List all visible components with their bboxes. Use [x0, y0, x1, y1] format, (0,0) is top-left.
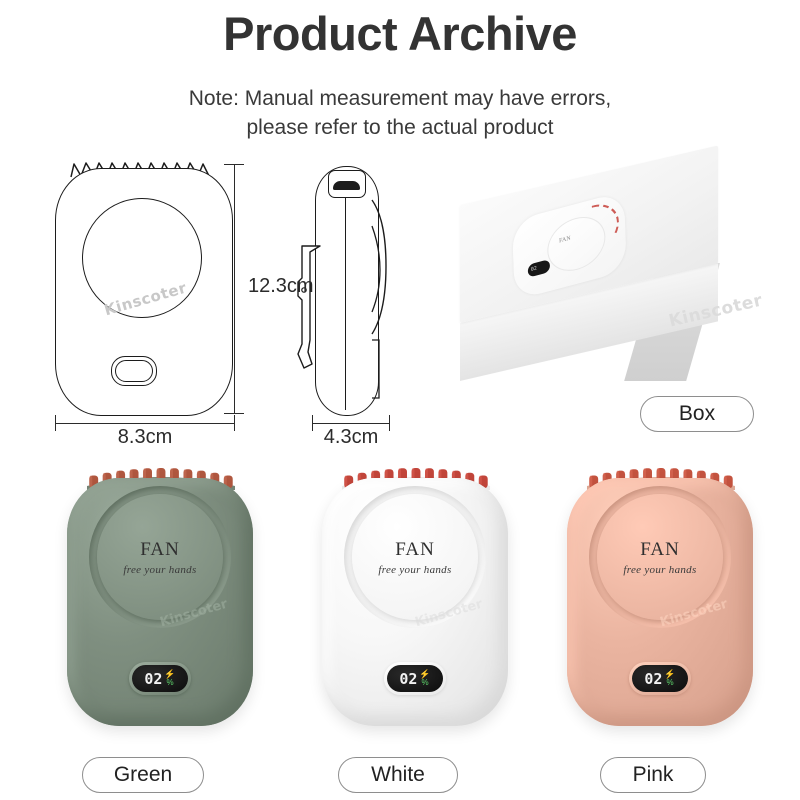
note-line-1: Note: Manual measurement may have errors… [0, 84, 800, 113]
width-dimension-label: 8.3cm [55, 426, 235, 449]
label-pill-green: Green [82, 757, 204, 793]
measurement-note: Note: Manual measurement may have errors… [0, 84, 800, 142]
side-port-outline [370, 334, 384, 404]
label-pill-white: White [338, 757, 458, 793]
note-line-2: please refer to the actual product [0, 113, 800, 142]
battery-unit-pink: % [666, 679, 673, 687]
fan-label-white: FAN [395, 539, 435, 561]
variant-pink: FAN free your hands 02 ⚡ % Kinscoter [545, 452, 775, 742]
label-pill-pink: Pink [600, 757, 706, 793]
battery-display-white: 02 ⚡ % [384, 662, 446, 695]
variant-white: FAN free your hands 02 ⚡ % Kinscoter [300, 452, 530, 742]
fan-sublabel-green: free your hands [123, 564, 196, 576]
product-archive-page: Product Archive Note: Manual measurement… [0, 0, 800, 800]
depth-dimension-label: 4.3cm [300, 426, 402, 449]
battery-unit-green: % [166, 679, 173, 687]
front-button-outline [111, 356, 157, 386]
front-fan-circle-outline [82, 198, 202, 318]
fan-label-green: FAN [140, 539, 180, 561]
battery-unit-white: % [421, 679, 428, 687]
fan-unit-green: FAN free your hands 02 ⚡ % Kinscoter [67, 464, 253, 726]
fan-unit-white: FAN free your hands 02 ⚡ % Kinscoter [322, 464, 508, 726]
battery-value-pink: 02 [644, 670, 662, 688]
fan-cap-pink: FAN free your hands [597, 494, 723, 620]
fan-label-pink: FAN [640, 539, 680, 561]
product-box: FAN 02 Kinscoter [460, 205, 718, 390]
side-view-drawing [300, 158, 410, 420]
side-lanyard-outline [368, 196, 392, 338]
front-view-drawing [55, 158, 235, 418]
battery-value-white: 02 [399, 670, 417, 688]
battery-display-green: 02 ⚡ % [129, 662, 191, 695]
box-art-display-value: 02 [531, 265, 537, 273]
fan-cap-white: FAN free your hands [352, 494, 478, 620]
height-dimension-label: 12.3cm [248, 275, 314, 298]
page-title: Product Archive [0, 6, 800, 61]
side-seam-line [345, 186, 346, 410]
battery-value-green: 02 [144, 670, 162, 688]
fan-sublabel-white: free your hands [378, 564, 451, 576]
fan-cap-green: FAN free your hands [97, 494, 223, 620]
label-pill-box: Box [640, 396, 754, 432]
side-top-vent-outline [328, 170, 366, 198]
variant-green: FAN free your hands 02 ⚡ % Kinscoter [45, 452, 275, 742]
height-dimension-line [222, 164, 244, 414]
battery-display-pink: 02 ⚡ % [629, 662, 691, 695]
side-clip-outline [294, 244, 324, 372]
fan-unit-pink: FAN free your hands 02 ⚡ % Kinscoter [567, 464, 753, 726]
fan-sublabel-pink: free your hands [623, 564, 696, 576]
